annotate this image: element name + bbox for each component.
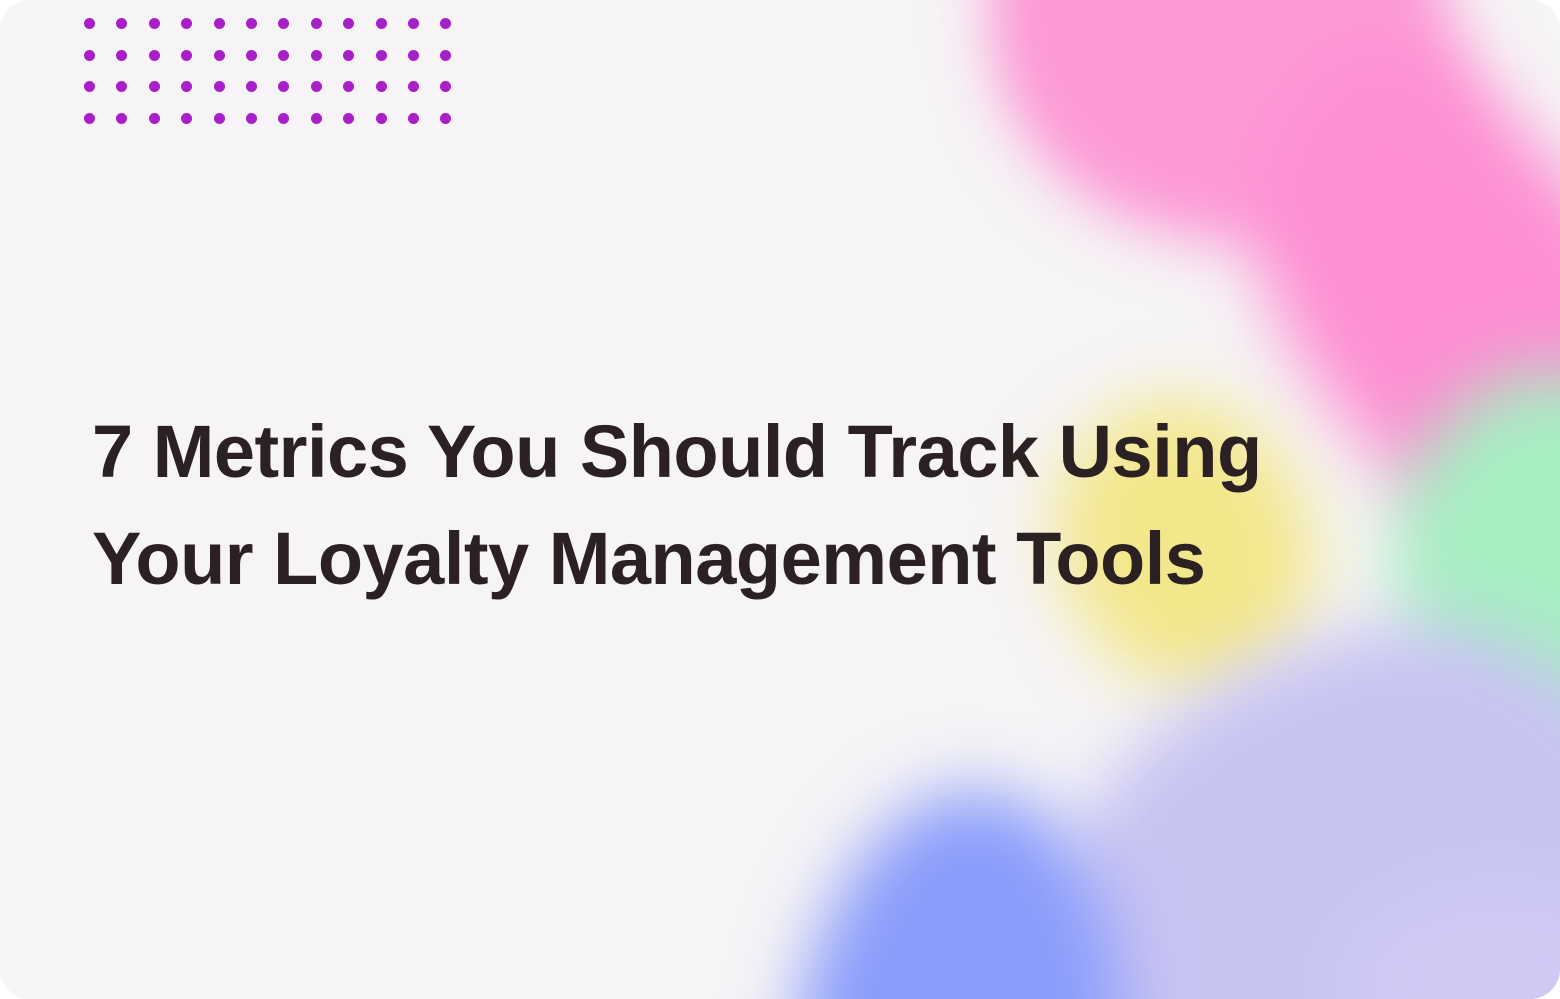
dot-grid-dot	[84, 81, 95, 92]
dot-grid-dot	[214, 18, 225, 29]
dot-grid-dot	[408, 18, 419, 29]
dot-grid-dot	[440, 81, 451, 92]
dot-grid-dot	[408, 81, 419, 92]
dot-grid-dot	[440, 113, 451, 124]
dot-grid-dot	[278, 50, 289, 61]
lavender-edge-sliver-shape	[1317, 855, 1560, 999]
dot-grid-dot	[343, 113, 354, 124]
page-title: 7 Metrics You Should Track Using Your Lo…	[92, 398, 1332, 612]
dot-grid-dot	[214, 50, 225, 61]
dot-grid-dot	[214, 81, 225, 92]
dot-grid-dot	[278, 113, 289, 124]
dot-grid-dot	[408, 113, 419, 124]
dot-grid-dot	[246, 113, 257, 124]
dot-grid-dot	[376, 113, 387, 124]
dot-grid-dot	[181, 81, 192, 92]
dot-grid-dot	[440, 50, 451, 61]
dot-grid-dot	[376, 18, 387, 29]
dot-grid-dot	[149, 18, 160, 29]
dot-grid-dot	[311, 18, 322, 29]
dot-grid-dot	[311, 50, 322, 61]
dot-grid-dot	[214, 113, 225, 124]
dot-grid-dot	[84, 18, 95, 29]
dot-grid-dot	[278, 18, 289, 29]
dot-grid-dot	[149, 113, 160, 124]
pink-wedge-shape	[989, 0, 1500, 271]
dot-grid-dot	[84, 50, 95, 61]
pink-petal-top-shape	[931, 0, 1499, 269]
dot-grid-dot	[408, 50, 419, 61]
dot-grid-dot	[278, 81, 289, 92]
dot-grid-dot	[376, 81, 387, 92]
dot-grid-dot	[246, 18, 257, 29]
title-block: 7 Metrics You Should Track Using Your Lo…	[92, 398, 1332, 612]
dot-grid-dot	[440, 18, 451, 29]
dot-grid-dot	[149, 50, 160, 61]
dot-grid-dot	[246, 50, 257, 61]
dot-grid-dot	[116, 18, 127, 29]
dot-grid-dot	[343, 18, 354, 29]
dot-grid-dot	[311, 81, 322, 92]
dot-grid-dot	[181, 113, 192, 124]
dot-grid-dot	[376, 50, 387, 61]
dot-grid-dot	[84, 113, 95, 124]
cover-card: 7 Metrics You Should Track Using Your Lo…	[0, 0, 1560, 999]
dot-grid-dot	[311, 113, 322, 124]
dot-grid-dot	[149, 81, 160, 92]
dot-grid-dot	[116, 81, 127, 92]
dot-grid-dot	[343, 50, 354, 61]
dot-grid-dot	[116, 50, 127, 61]
dot-grid-dot	[343, 81, 354, 92]
dot-grid-dot	[181, 18, 192, 29]
blue-teardrop-shape	[780, 774, 1150, 999]
lavender-petal-shape	[991, 572, 1560, 999]
mint-green-wedge-shape	[1343, 328, 1560, 833]
dot-grid-ornament	[84, 0, 473, 145]
dot-grid-dot	[116, 113, 127, 124]
dot-grid-dot	[246, 81, 257, 92]
dot-grid-dot	[181, 50, 192, 61]
